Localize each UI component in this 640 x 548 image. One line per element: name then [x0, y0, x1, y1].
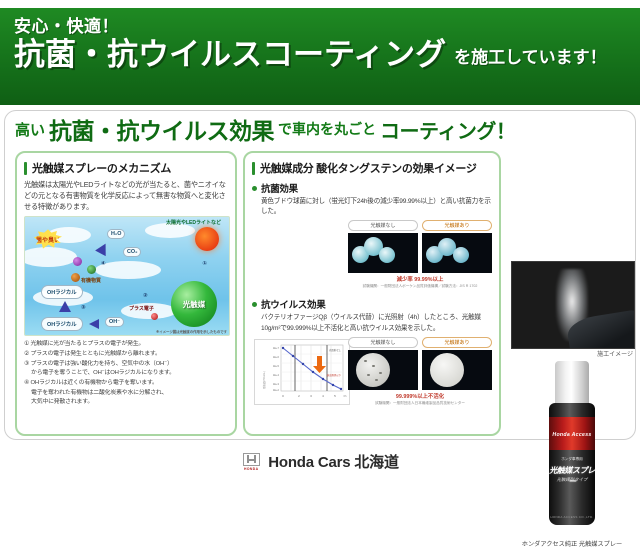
- co2-chip: CO₂: [123, 247, 141, 257]
- title-accent-bar: [24, 162, 27, 175]
- step-1-marker: ①: [202, 261, 207, 267]
- oh-radical-chip: OHラジカル: [41, 285, 83, 299]
- chart-svg: 1E+7 1E+6 1E+5 1E+4 1E+3 1E+2 0 2 3 4 5 …: [255, 340, 351, 406]
- arrow-left-icon: [89, 319, 99, 329]
- antibacterial-heading: 抗菌効果: [261, 181, 298, 195]
- subheading-part1: 高い: [15, 119, 45, 140]
- oh-radical-chip-2: OHラジカル: [41, 317, 83, 331]
- label-without-photocatalyst: 光触媒なし: [348, 220, 418, 231]
- svg-text:3: 3: [310, 394, 312, 398]
- note-item: ④ OHラジカルは近くの有機物から電子を奪います。: [24, 379, 228, 388]
- plus-electron-label: プラス電子: [129, 305, 154, 312]
- antibacterial-heading-row: 抗菌効果: [252, 181, 492, 195]
- petri-dish-without: [348, 233, 418, 273]
- header-main-title: 抗菌・抗ウイルスコーティング: [14, 39, 446, 72]
- colony-shape: [379, 247, 395, 263]
- svg-text:2: 2: [298, 394, 300, 398]
- spray-photo: [511, 261, 635, 349]
- step-2-marker: ②: [143, 293, 148, 299]
- svg-text:1E+2: 1E+2: [273, 388, 280, 392]
- label-with-photocatalyst: 光触媒あり: [422, 337, 492, 348]
- svg-text:5: 5: [334, 394, 336, 398]
- header-main-row: 抗菌・抗ウイルスコーティング を施工しています！: [14, 39, 640, 72]
- molecule-dot: [71, 273, 80, 282]
- antiviral-test-note: 試験機関：一般財団法人日本繊維製品品質技術センター: [348, 401, 492, 406]
- content-card: 高い 抗菌・抗ウイルス効果 で車内を丸ごと コーティング！ 光触媒スプレーのメカ…: [4, 110, 636, 440]
- colony-shape: [453, 247, 469, 263]
- organic-matter-label: 有機物質: [81, 277, 101, 284]
- petri-dish-with: [422, 233, 492, 273]
- svg-text:0: 0: [282, 394, 284, 398]
- header-tail-text: を施工しています！: [454, 43, 607, 71]
- note-item: ③ プラスの電子は強い酸化力を持ち、空気中の水（OH⁻）: [24, 360, 228, 369]
- antiviral-description: バクテリオファージQβ（ウイルス代替）に光照射（4h）したところ、光触媒10g/…: [252, 313, 492, 333]
- subheading-part3: で車内を丸ごと: [278, 119, 376, 139]
- spray-photo-caption: 施工イメージ: [511, 349, 633, 358]
- label-with-photocatalyst: 光触媒あり: [422, 220, 492, 231]
- arrow-up-icon: [95, 241, 111, 256]
- mechanism-panel: 光触媒スプレーのメカニズム 光触媒は太陽光やLEDライトなどの光が当たると、菌や…: [15, 151, 237, 436]
- honda-h-icon: [243, 453, 260, 466]
- honda-logo-word: HONDA: [241, 467, 261, 471]
- antibacterial-evidence: 光触媒なし 光触媒あり: [252, 220, 492, 292]
- plaque-dish-with: [422, 350, 492, 390]
- dish-shape: [356, 353, 390, 387]
- cloud-shape: [24, 247, 77, 267]
- bottle-foot-text: HONDA ACCESS CO.,LTD.: [549, 515, 595, 519]
- molecule-dot: [87, 265, 96, 274]
- mechanism-diagram: 太陽光やLEDライトなど ① 菌や臭い H₂O CO₂ 有機物質 ④ OHラジカ…: [24, 216, 230, 336]
- bottle-caption: ホンダアクセス純正 光触媒スプレー: [505, 539, 639, 548]
- antibacterial-test-note: 試験機関：一般財団法人ボーケン品質評価機構／試験方法：JIS R 1702: [348, 284, 492, 289]
- subheading-part2: 抗菌・抗ウイルス効果: [49, 112, 274, 146]
- effects-title: 光触媒成分 酸化タングステンの効果イメージ: [260, 160, 477, 176]
- arrow-up-icon: [59, 301, 71, 312]
- molecule-dot: [73, 257, 82, 266]
- effects-title-row: 光触媒成分 酸化タングステンの効果イメージ: [252, 160, 492, 176]
- mechanism-title: 光触媒スプレーのメカニズム: [32, 160, 171, 176]
- bullet-dot-icon: [252, 302, 257, 307]
- subheading: 高い 抗菌・抗ウイルス効果 で車内を丸ごと コーティング！: [15, 114, 631, 144]
- light-source-label: 太陽光やLEDライトなど: [166, 219, 221, 226]
- effects-panel: 光触媒成分 酸化タングステンの効果イメージ 抗菌効果 黄色ブドウ球菌に対し（蛍光…: [243, 151, 501, 436]
- svg-text:光照射なし: 光照射なし: [329, 348, 342, 352]
- svg-text:検出限界以下: 検出限界以下: [327, 373, 342, 377]
- note-item: ② プラスの電子は発生とともに光触媒から離れます。: [24, 350, 228, 359]
- electron-dot: [151, 313, 158, 320]
- bottle-brand-text: Honda Access: [549, 432, 595, 438]
- note-item: 電子を奪われた有機物は二酸化炭素や水に分解され、: [24, 389, 228, 398]
- svg-text:1E+3: 1E+3: [273, 382, 280, 386]
- page-header: 安心・快適！ 抗菌・抗ウイルスコーティング を施工しています！: [0, 8, 640, 105]
- antiviral-heading: 抗ウイルス効果: [261, 297, 325, 311]
- svg-text:6h: 6h: [344, 394, 347, 398]
- svg-text:1E+4: 1E+4: [273, 373, 280, 377]
- svg-text:4: 4: [322, 394, 324, 398]
- honda-logo: HONDA: [241, 453, 261, 471]
- antiviral-heading-row: 抗ウイルス効果: [252, 297, 492, 311]
- sun-icon: [195, 227, 219, 251]
- plaque-dish-without: [348, 350, 418, 390]
- bullet-dot-icon: [252, 186, 257, 191]
- antiviral-evidence: 1E+7 1E+6 1E+5 1E+4 1E+3 1E+2 0 2 3 4 5 …: [252, 337, 492, 409]
- diagram-footnote: ※イメージ図は光触媒の作用を示したものです: [156, 329, 227, 334]
- advertisement-page: 安心・快適！ 抗菌・抗ウイルスコーティング を施工しています！ 高い 抗菌・抗ウ…: [0, 0, 640, 480]
- label-without-photocatalyst: 光触媒なし: [348, 337, 418, 348]
- antiviral-photo-pair: 光触媒なし 光触媒あり: [348, 337, 492, 406]
- svg-text:感染価(PFU/mL): 感染価(PFU/mL): [262, 371, 266, 389]
- note-item: から電子を奪うことで、OH⁻はOHラジカルになります。: [24, 369, 228, 378]
- honda-h-bar: [247, 459, 255, 461]
- antiviral-caption: 99.999%以上不活化: [348, 392, 492, 400]
- footer-dealer-name: Honda Cars 北海道: [268, 451, 399, 472]
- virus-inactivation-chart: 1E+7 1E+6 1E+5 1E+4 1E+3 1E+2 0 2 3 4 5 …: [254, 339, 350, 405]
- page-footer: HONDA Honda Cars 北海道: [0, 443, 640, 480]
- bottle-cap: [555, 361, 589, 405]
- subheading-part4: コーティング！: [380, 115, 515, 144]
- h2o-chip: H₂O: [107, 229, 125, 239]
- antibacterial-photo-labels: 光触媒なし 光触媒あり: [348, 220, 492, 231]
- step-3-marker: ③: [81, 305, 86, 311]
- antibacterial-caption: 減少率 99.99%以上: [348, 275, 492, 283]
- svg-text:1E+5: 1E+5: [273, 364, 280, 368]
- antibacterial-description: 黄色ブドウ球菌に対し（蛍光灯下24h後の減少率99.99%以上）と高い抗菌力を示…: [252, 197, 492, 217]
- mechanism-body-text: 光触媒は太陽光やLEDライトなどの光が当たると、菌やニオイなどの元となる有害物質…: [24, 180, 228, 212]
- photocatalyst-sphere: 光触媒: [171, 281, 217, 327]
- svg-text:1E+7: 1E+7: [273, 346, 280, 350]
- step-4-marker: ④: [101, 261, 106, 267]
- svg-text:1E+6: 1E+6: [273, 355, 280, 359]
- antibacterial-photos: [348, 233, 492, 273]
- oh-minus-chip: OH⁻: [105, 317, 124, 327]
- header-kicker: 安心・快適！: [14, 18, 640, 37]
- antibacterial-photo-pair: 光触媒なし 光触媒あり: [348, 220, 492, 289]
- antiviral-photo-labels: 光触媒なし 光触媒あり: [348, 337, 492, 348]
- note-item: 大気中に発散されます。: [24, 398, 228, 407]
- mechanism-title-row: 光触媒スプレーのメカニズム: [24, 160, 228, 176]
- antiviral-photos: [348, 350, 492, 390]
- mechanism-notes: ① 光触媒に光が当たるとプラスの電子が発生。 ② プラスの電子は発生とともに光触…: [24, 340, 228, 407]
- note-item: ① 光触媒に光が当たるとプラスの電子が発生。: [24, 340, 228, 349]
- dish-shape: [430, 353, 464, 387]
- title-accent-bar: [252, 162, 255, 175]
